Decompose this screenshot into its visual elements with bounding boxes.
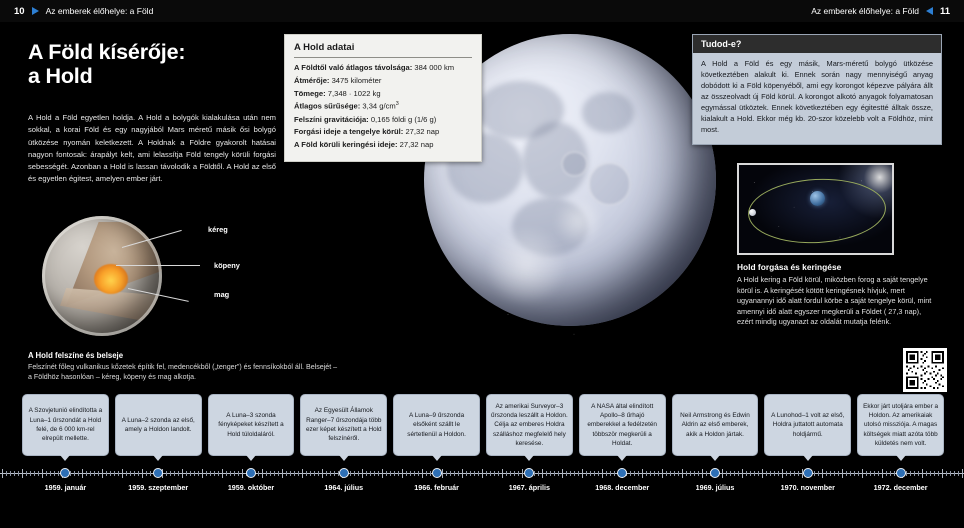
timeline-date: 1959. szeptember (115, 483, 202, 499)
orbit-caption-body: A Hold kering a Föld körül, miközben for… (737, 275, 933, 328)
fact-value: 384 000 km (414, 63, 454, 72)
page-header: 10 Az emberek élőhelye: a Föld Az embere… (0, 0, 964, 22)
fact-label: A Földtől való átlagos távolsága: (294, 63, 412, 72)
timeline-date: 1964. július (300, 483, 387, 499)
qr-code-svg (906, 351, 944, 389)
timeline-card-text: A Luna–9 űrszonda elsőként szállt le sér… (398, 411, 475, 439)
timeline-dot[interactable] (803, 468, 813, 478)
fact-value: 27,32 nap (405, 127, 439, 136)
timeline-date: 1968. december (579, 483, 666, 499)
fact-value: 27,32 nap (400, 140, 434, 149)
fact-row: Átmérője: 3475 kilométer (294, 75, 472, 88)
crater (588, 162, 632, 206)
timeline-card[interactable]: Az amerikai Surveyor–3 űrszonda leszállt… (486, 394, 573, 456)
timeline-dot[interactable] (710, 468, 720, 478)
fact-value: 0,165 földi g (1/6 g) (371, 115, 436, 124)
header-right: Az emberek élőhelye: a Föld 11 (811, 6, 950, 17)
timeline-cards: A Szovjetunió elindította a Luna–1 űrszo… (22, 394, 944, 456)
page-title: A Föld kísérője: a Hold (28, 40, 278, 88)
header-left: 10 Az emberek élőhelye: a Föld (14, 6, 153, 17)
did-you-know-box: Tudod-e? A Hold a Föld és egy másik, Mar… (692, 34, 942, 145)
timeline-card-text: Az Egyesült Államok Ranger–7 űrszondája … (305, 406, 382, 443)
fact-label: Átlagos sűrűsége: (294, 102, 360, 111)
orbit-caption-title: Hold forgása és keringése (737, 262, 841, 272)
timeline-dot[interactable] (339, 468, 349, 478)
timeline-card-text: A NASA által elindított Apollo–8 űrhajó … (584, 402, 661, 448)
crater-rays (552, 198, 605, 245)
fact-row: Felszíni gravitációja: 0,165 földi g (1/… (294, 114, 472, 127)
moon-cutaway-diagram (34, 212, 169, 350)
timeline-card[interactable]: Neil Armstrong és Edwin Aldrin az első e… (672, 394, 759, 456)
moon-icon (749, 209, 756, 216)
timeline-card[interactable]: A Luna–9 űrszonda elsőként szállt le sér… (393, 394, 480, 456)
timeline-card[interactable]: A NASA által elindított Apollo–8 űrhajó … (579, 394, 666, 456)
timeline-date: 1959. január (22, 483, 109, 499)
timeline-card[interactable]: A Lunohod–1 volt az első, Holdra juttato… (764, 394, 851, 456)
timeline-dot[interactable] (896, 468, 906, 478)
leader-line-kopeny (116, 265, 200, 266)
crust-rim (42, 216, 162, 336)
fact-value: 3475 kilométer (332, 76, 382, 85)
fact-label: Átmérője: (294, 76, 329, 85)
timeline-dot[interactable] (432, 468, 442, 478)
did-you-know-body: A Hold a Föld és egy másik, Mars-méretű … (693, 53, 941, 144)
timeline-axis (0, 468, 964, 480)
label-kopeny: köpeny (214, 261, 240, 270)
timeline-date: 1967. április (486, 483, 573, 499)
timeline-date: 1959. október (208, 483, 295, 499)
header-title-right: Az emberek élőhelye: a Föld (811, 6, 919, 16)
timeline-card-text: A Luna–2 szonda az első, amely a Holdon … (120, 416, 197, 435)
crater-rays (482, 227, 570, 303)
moon-facts-box: A Hold adatai A Földtől való átlagos táv… (284, 34, 482, 162)
timeline-dates: 1959. január 1959. szeptember 1959. októ… (22, 483, 944, 499)
qr-code-icon[interactable] (903, 348, 947, 392)
cutaway-caption-body: Felszínét főleg vulkanikus kőzetek építi… (28, 362, 340, 383)
fact-row: A Földtől való átlagos távolsága: 384 00… (294, 62, 472, 75)
page-number-left: 10 (14, 6, 25, 17)
fact-row: Átlagos sűrűsége: 3,34 g/cm3 (294, 100, 472, 113)
timeline-card[interactable]: Ekkor járt utoljára ember a Holdon. Az a… (857, 394, 944, 456)
fact-value: 7,348 · 1022 kg (328, 89, 381, 98)
fact-label: A Föld körüli keringési ideje: (294, 140, 398, 149)
timeline-card[interactable]: Az Egyesült Államok Ranger–7 űrszondája … (300, 394, 387, 456)
timeline-date: 1970. november (764, 483, 851, 499)
timeline-ticks (0, 468, 964, 479)
textbook-spread: 10 Az emberek élőhelye: a Föld Az embere… (0, 0, 964, 528)
prev-page-arrow-icon[interactable] (926, 7, 933, 15)
fact-label: Forgási ideje a tengelye körül: (294, 127, 403, 136)
cutaway-caption-title: A Hold felszíne és belseje (28, 351, 123, 360)
next-page-arrow-icon[interactable] (32, 7, 39, 15)
earth-icon (810, 191, 825, 206)
timeline-card-text: Neil Armstrong és Edwin Aldrin az első e… (677, 411, 754, 439)
fact-exponent: 3 (396, 101, 399, 107)
mare-region (582, 92, 635, 133)
fact-row: A Föld körüli keringési ideje: 27,32 nap (294, 139, 472, 152)
timeline-card[interactable]: A Luna–2 szonda az első, amely a Holdon … (115, 394, 202, 456)
timeline-dot[interactable] (246, 468, 256, 478)
label-kereg: kéreg (208, 225, 228, 234)
timeline-date: 1966. február (393, 483, 480, 499)
fact-label: Tömege: (294, 89, 326, 98)
timeline-card-text: A Lunohod–1 volt az első, Holdra juttato… (769, 411, 846, 439)
timeline-card[interactable]: A Luna–3 szonda fényképeket készített a … (208, 394, 295, 456)
timeline-date: 1969. július (672, 483, 759, 499)
label-mag: mag (214, 290, 229, 299)
header-title-left: Az emberek élőhelye: a Föld (46, 6, 154, 16)
fact-row: Tömege: 7,348 · 1022 kg (294, 88, 472, 101)
timeline-date: 1972. december (857, 483, 944, 499)
timeline-card[interactable]: A Szovjetunió elindította a Luna–1 űrszo… (22, 394, 109, 456)
timeline-card-text: Ekkor járt utoljára ember a Holdon. Az a… (862, 402, 939, 448)
moon-facts-title: A Hold adatai (294, 42, 472, 58)
orbit-diagram (737, 163, 894, 255)
crater (561, 151, 587, 177)
fact-label: Felszíni gravitációja: (294, 115, 369, 124)
timeline-card-text: A Szovjetunió elindította a Luna–1 űrszo… (27, 406, 104, 443)
did-you-know-title: Tudod-e? (693, 35, 941, 53)
page-number-right: 11 (940, 6, 950, 17)
fact-row: Forgási ideje a tengelye körül: 27,32 na… (294, 126, 472, 139)
fact-value: 3,34 g/cm (362, 102, 395, 111)
timeline-card-text: Az amerikai Surveyor–3 űrszonda leszállt… (491, 402, 568, 448)
timeline-card-text: A Luna–3 szonda fényképeket készített a … (213, 411, 290, 439)
article-lead-paragraph: A Hold a Föld egyetlen holdja. A Hold a … (28, 112, 276, 186)
